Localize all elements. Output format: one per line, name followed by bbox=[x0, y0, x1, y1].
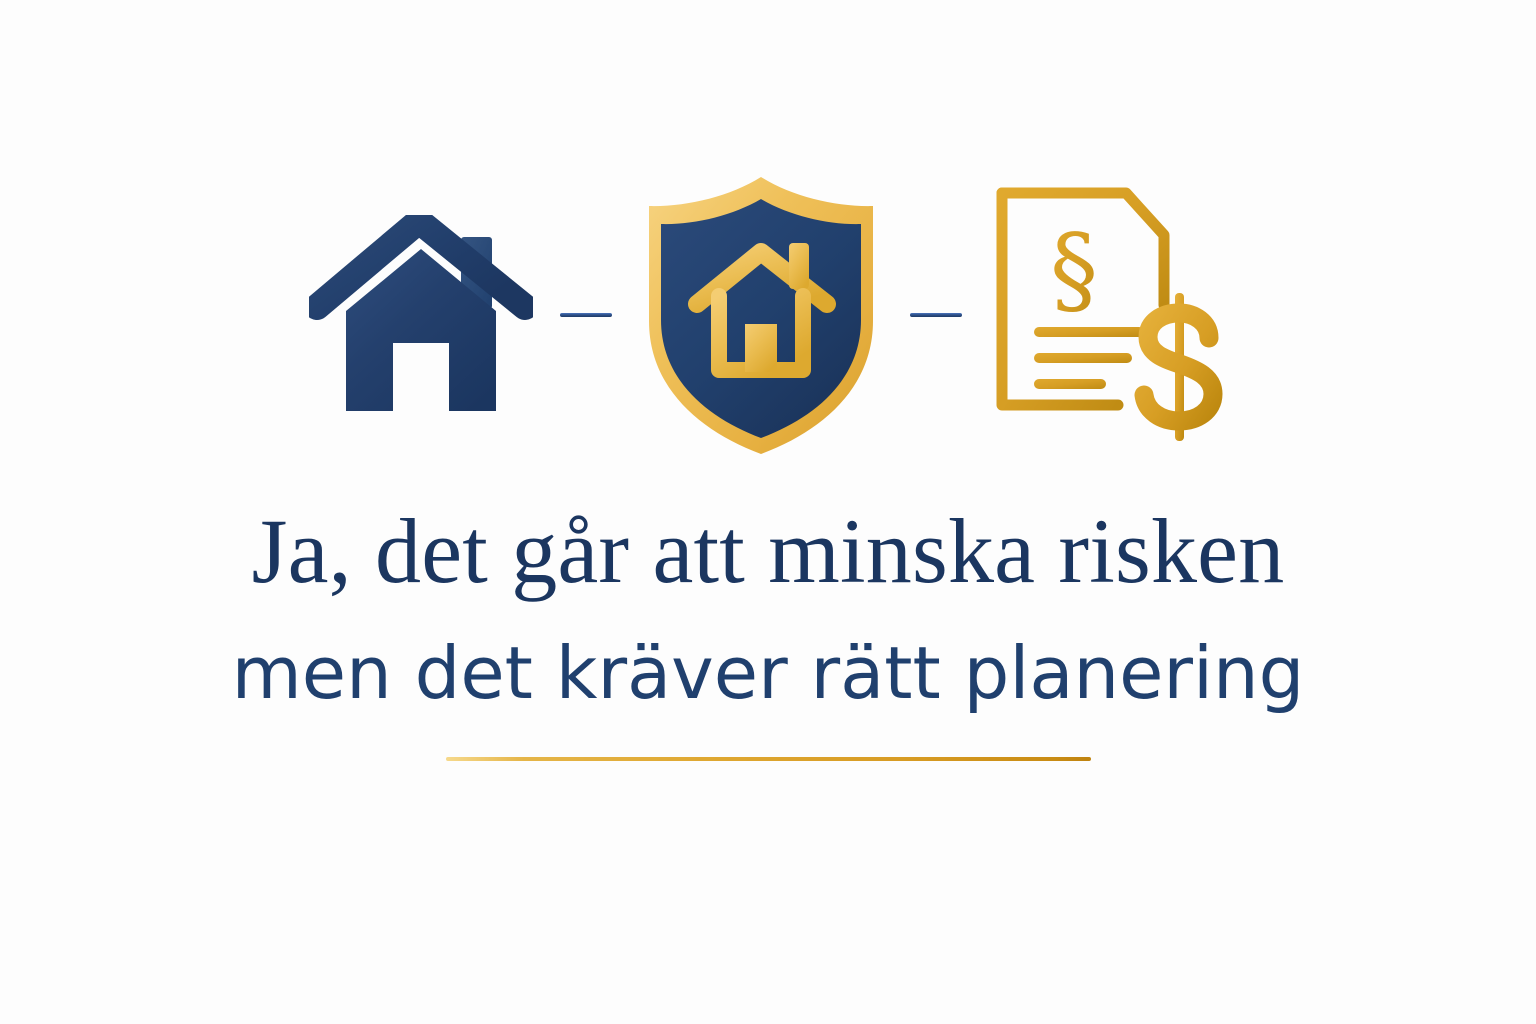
gold-divider bbox=[446, 757, 1091, 761]
section-symbol-glyph: § bbox=[1050, 214, 1098, 326]
shield-house-icon bbox=[641, 173, 881, 458]
dollar-sign-glyph bbox=[1144, 293, 1213, 441]
text-block: Ja, det går att minska risken men det kr… bbox=[0, 505, 1536, 761]
divider-wrapper bbox=[0, 757, 1536, 761]
connector-line-1 bbox=[560, 313, 612, 317]
legal-document-dollar-icon-slot: § bbox=[986, 180, 1231, 450]
connector-line-2 bbox=[910, 313, 962, 317]
legal-document-dollar-icon: § bbox=[988, 183, 1228, 448]
house-icon-slot bbox=[306, 200, 536, 430]
slide-canvas: § Ja, det går att minska risken men det … bbox=[0, 0, 1536, 1024]
page-subtitle: men det kräver rätt planering bbox=[0, 637, 1536, 709]
icon-row: § bbox=[0, 160, 1536, 470]
page-title: Ja, det går att minska risken bbox=[0, 505, 1536, 597]
shield-house-icon-slot bbox=[636, 170, 886, 460]
house-icon bbox=[309, 215, 533, 415]
